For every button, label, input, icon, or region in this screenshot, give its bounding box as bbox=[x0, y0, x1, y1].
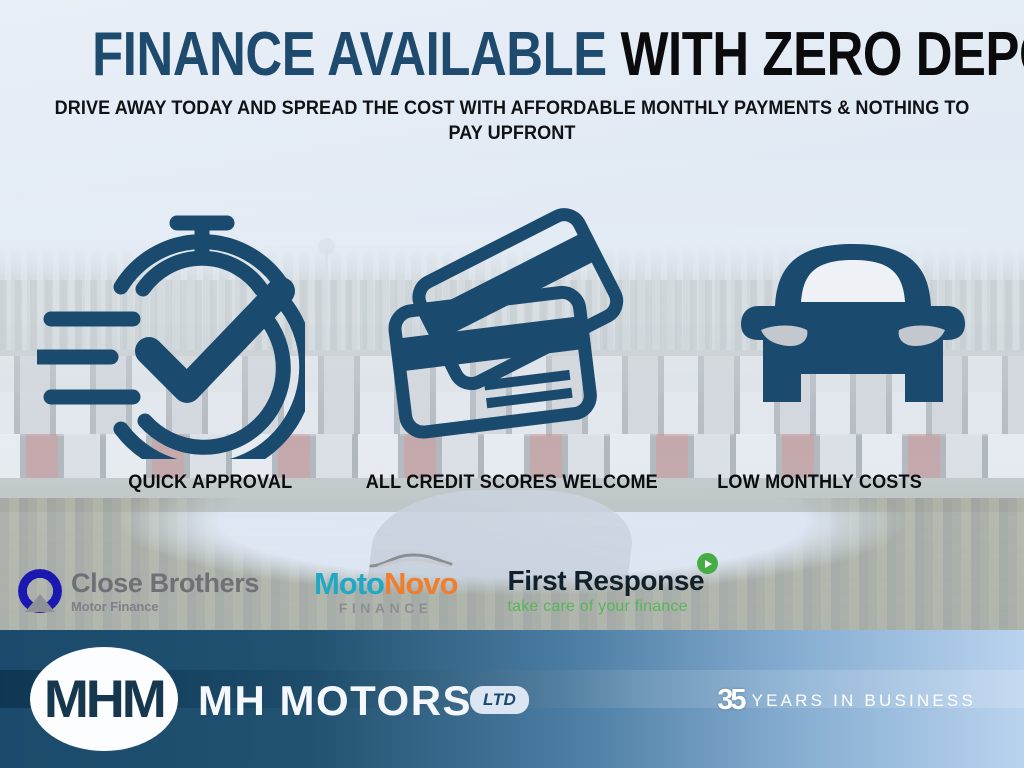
lender-first-response: First Response take care of your finance bbox=[507, 567, 704, 615]
mh-motors-wordmark: MH MOTORS bbox=[198, 677, 472, 725]
subheadline: DRIVE AWAY TODAY AND SPREAD THE COST WIT… bbox=[47, 96, 978, 146]
lender-logo-strip: Close Brothers Motor Finance MotoNovo FI… bbox=[0, 556, 1024, 626]
lender-tagline: FINANCE bbox=[314, 601, 458, 615]
lender-name: Close Brothers bbox=[71, 570, 259, 597]
lender-name-part1: Moto bbox=[314, 566, 384, 601]
car-front-icon bbox=[739, 234, 967, 434]
feature-low-monthly-costs: LOW MONTHLY COSTS bbox=[683, 200, 1024, 494]
feature-icon-slot bbox=[387, 200, 637, 468]
lender-name: First Response bbox=[507, 567, 704, 595]
green-play-circle-icon bbox=[697, 553, 718, 574]
feature-label: QUICK APPROVAL bbox=[129, 472, 293, 494]
feature-all-credit-scores: ALL CREDIT SCORES WELCOME bbox=[341, 200, 682, 494]
feature-quick-approval: QUICK APPROVAL bbox=[0, 200, 341, 494]
finance-promo-banner: FINANCE AVAILABLE WITH ZERO DEPOSIT DRIV… bbox=[0, 0, 1024, 768]
feature-label: ALL CREDIT SCORES WELCOME bbox=[366, 472, 658, 494]
lender-tagline: Motor Finance bbox=[71, 600, 259, 613]
lender-motonovo: MotoNovo FINANCE bbox=[314, 568, 458, 615]
feature-icon-slot bbox=[739, 200, 967, 468]
ltd-badge: LTD bbox=[470, 686, 529, 714]
feature-icon-slot bbox=[37, 200, 305, 468]
headline-navy-text: FINANCE AVAILABLE bbox=[92, 20, 607, 89]
years-label: YEARS IN BUSINESS bbox=[752, 691, 976, 711]
mhm-logo: MHM bbox=[30, 647, 178, 751]
headline-black-text: WITH ZERO DEPOSIT bbox=[620, 20, 1024, 89]
close-brothers-arch-icon bbox=[18, 569, 62, 613]
years-in-business: 35 YEARS IN BUSINESS bbox=[717, 684, 976, 717]
stopwatch-check-icon bbox=[37, 209, 305, 459]
lender-close-brothers: Close Brothers Motor Finance bbox=[18, 569, 259, 613]
mhm-logo-letters: MHM bbox=[44, 669, 164, 730]
motonovo-car-icon bbox=[369, 553, 453, 569]
lender-tagline: take care of your finance bbox=[507, 599, 704, 615]
lender-name-part2: Novo bbox=[384, 566, 458, 601]
page-title: FINANCE AVAILABLE WITH ZERO DEPOSIT bbox=[92, 26, 932, 83]
years-number: 35 bbox=[717, 684, 743, 717]
footer-bar: MHM MH MOTORS LTD 35 YEARS IN BUSINESS bbox=[0, 630, 1024, 768]
feature-label: LOW MONTHLY COSTS bbox=[717, 472, 922, 494]
feature-row: QUICK APPROVAL ALL CREDIT SCO bbox=[0, 200, 1024, 494]
headline-block: FINANCE AVAILABLE WITH ZERO DEPOSIT DRIV… bbox=[0, 0, 1024, 146]
credit-cards-icon bbox=[387, 205, 637, 463]
